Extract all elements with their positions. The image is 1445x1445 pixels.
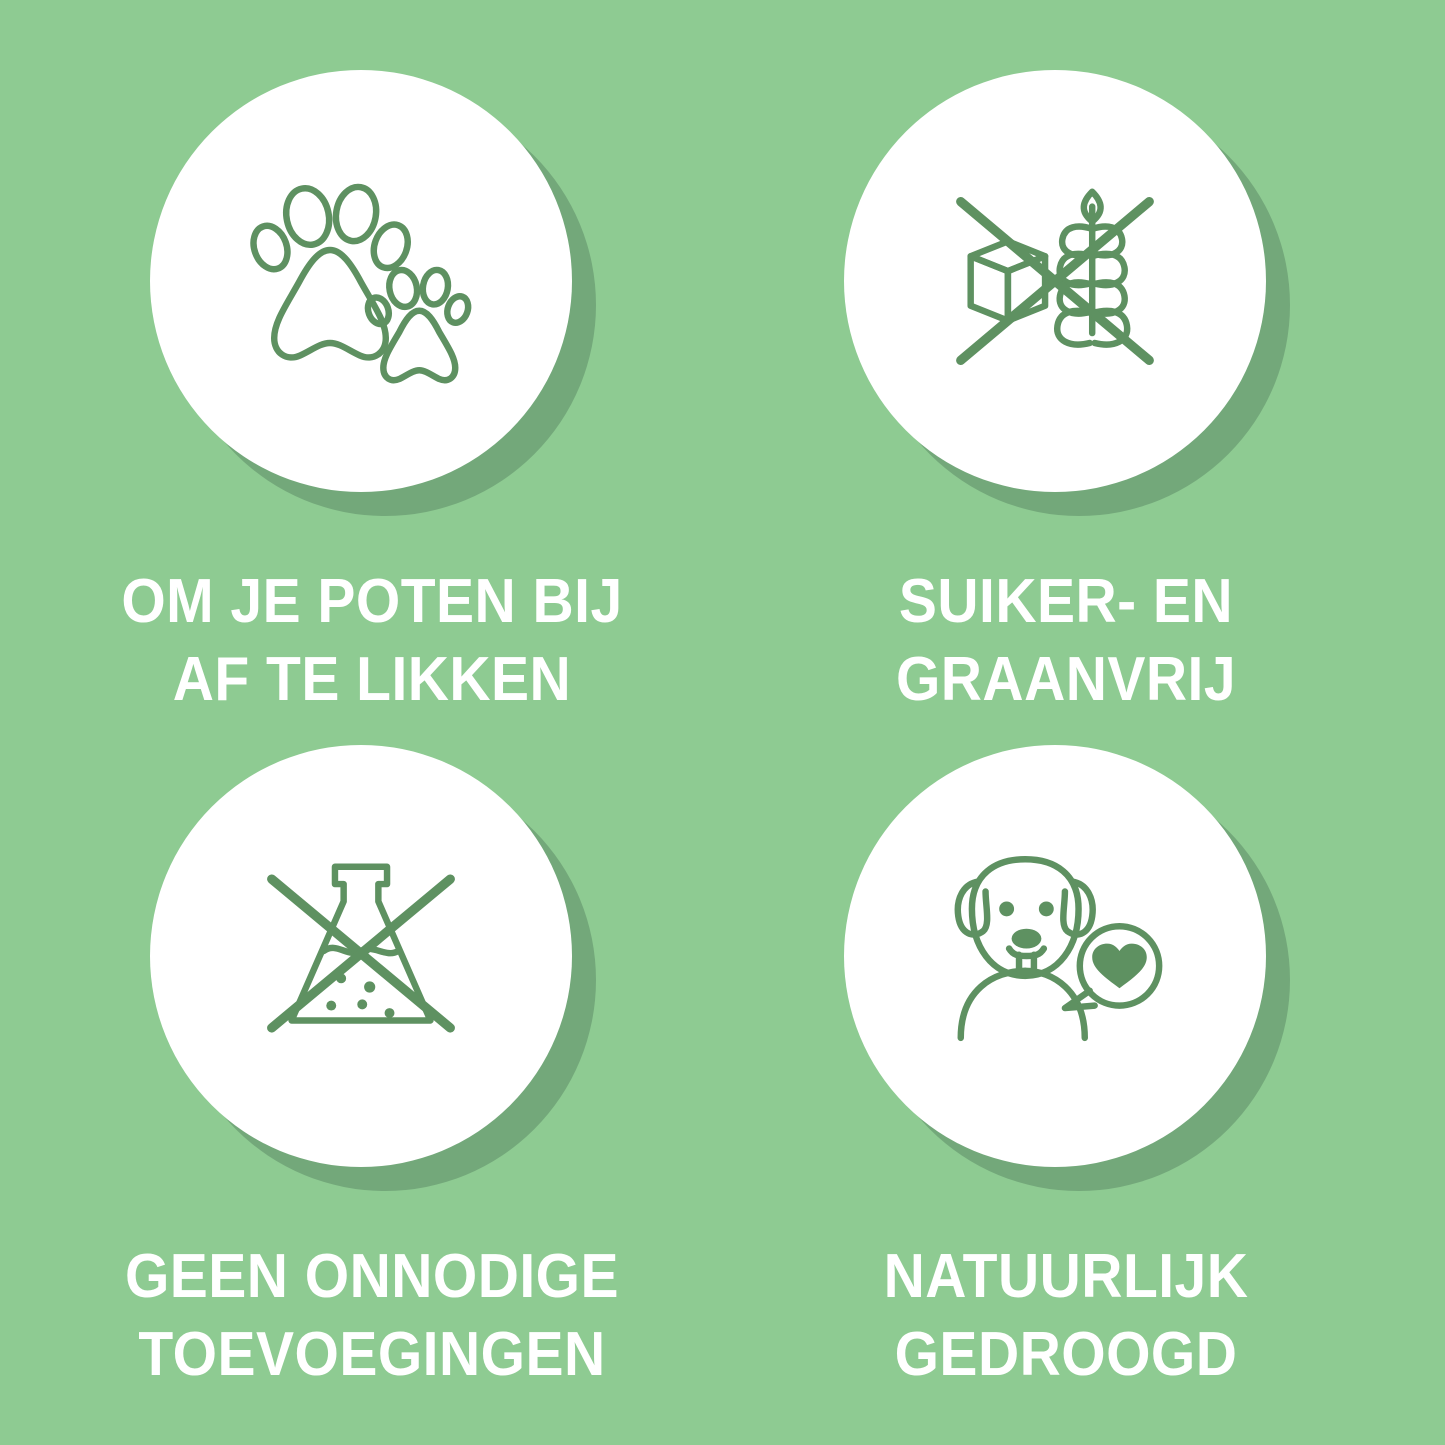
benefits-board: OM JE POTEN BIJ AF TE LIKKEN	[0, 0, 1445, 1445]
badge-disc	[844, 745, 1266, 1167]
feature-label-naturally-dried: NATUURLIJK GEDROOGD	[781, 1238, 1351, 1394]
no-chemical-flask-icon	[237, 832, 485, 1080]
feature-label-no-additives: GEEN ONNODIGE TOEVOEGINGEN	[87, 1238, 657, 1394]
badge-disc	[150, 745, 572, 1167]
badge-no-chemical-flask	[150, 745, 595, 1190]
feature-naturally-dried: NATUURLIJK GEDROOGD	[756, 745, 1376, 1394]
badge-disc	[150, 70, 572, 492]
paw-prints-icon	[237, 157, 485, 405]
feature-paw-licking: OM JE POTEN BIJ AF TE LIKKEN	[62, 70, 682, 719]
feature-sugar-grain-free: SUIKER- EN GRAANVRIJ	[756, 70, 1376, 719]
feature-label-sugar-grain-free: SUIKER- EN GRAANVRIJ	[781, 563, 1351, 719]
no-sugar-no-grain-icon	[931, 157, 1179, 405]
feature-label-paw-licking: OM JE POTEN BIJ AF TE LIKKEN	[87, 563, 657, 719]
badge-happy-dog-heart	[844, 745, 1289, 1190]
happy-dog-heart-icon	[931, 832, 1179, 1080]
speech-bubble-heart-icon	[1064, 926, 1158, 1008]
feature-no-additives: GEEN ONNODIGE TOEVOEGINGEN	[62, 745, 682, 1394]
badge-disc	[844, 70, 1266, 492]
sugar-cube-icon	[970, 241, 1044, 320]
dog-head-icon	[957, 859, 1092, 1038]
badge-no-sugar-no-grain	[844, 70, 1289, 515]
badge-paw-prints	[150, 70, 595, 515]
